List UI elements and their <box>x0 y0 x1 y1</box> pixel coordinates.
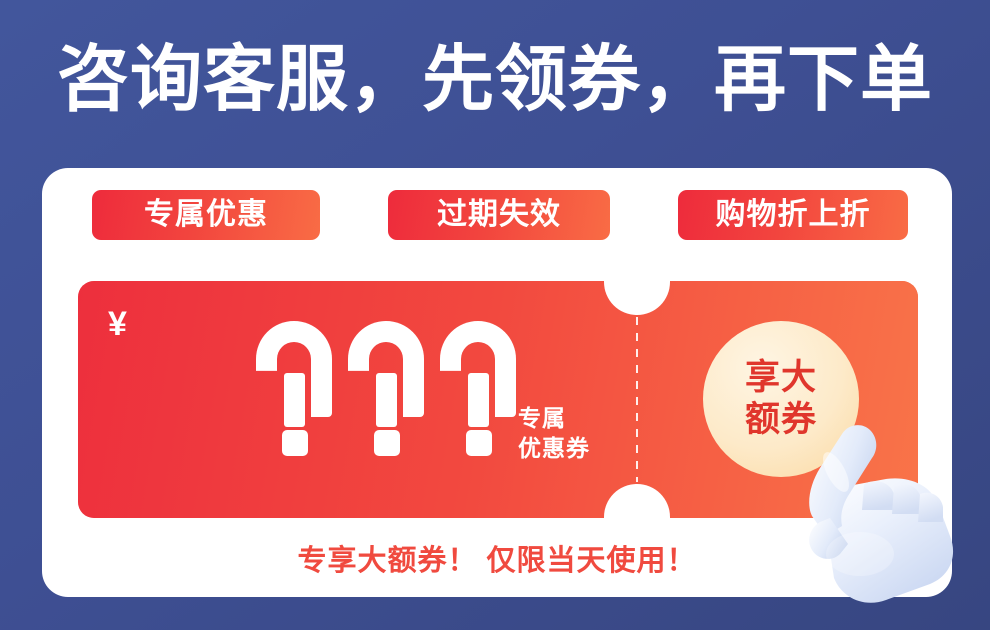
question-mark-icon <box>256 321 332 456</box>
coupon-ticket[interactable]: ¥ 专属 优惠券 享大 额券 <box>78 281 918 518</box>
ticket-type-label-line1: 专属 <box>518 403 590 433</box>
ticket-content: ¥ 专属 优惠券 享大 额券 <box>78 281 918 518</box>
coupon-terms-note: 专享大额券！ 仅限当天使用！ <box>42 537 952 579</box>
badge-row: 专属优惠 过期失效 购物折上折 <box>92 190 908 240</box>
question-mark-icon <box>440 321 516 456</box>
claim-label-line2: 额券 <box>745 399 817 441</box>
claim-coupon-button[interactable]: 享大 额券 <box>703 321 859 477</box>
question-mark-icon <box>348 321 424 456</box>
ticket-perforation <box>636 317 638 482</box>
badge-extra-discount[interactable]: 购物折上折 <box>678 190 908 240</box>
ticket-notch-top <box>604 281 670 315</box>
badge-expiry-notice[interactable]: 过期失效 <box>388 190 610 240</box>
ticket-type-label: 专属 优惠券 <box>518 403 590 463</box>
coupon-card: 专属优惠 过期失效 购物折上折 ¥ 专属 优惠券 <box>42 168 952 597</box>
yen-currency-icon: ¥ <box>108 307 127 341</box>
badge-exclusive-discount[interactable]: 专属优惠 <box>92 190 320 240</box>
page-title: 咨询客服，先领券，再下单 <box>0 38 990 122</box>
coupon-amount-placeholder <box>256 321 516 456</box>
ticket-type-label-line2: 优惠券 <box>518 433 590 463</box>
ticket-notch-bottom <box>604 484 670 518</box>
claim-label-line1: 享大 <box>745 357 817 399</box>
